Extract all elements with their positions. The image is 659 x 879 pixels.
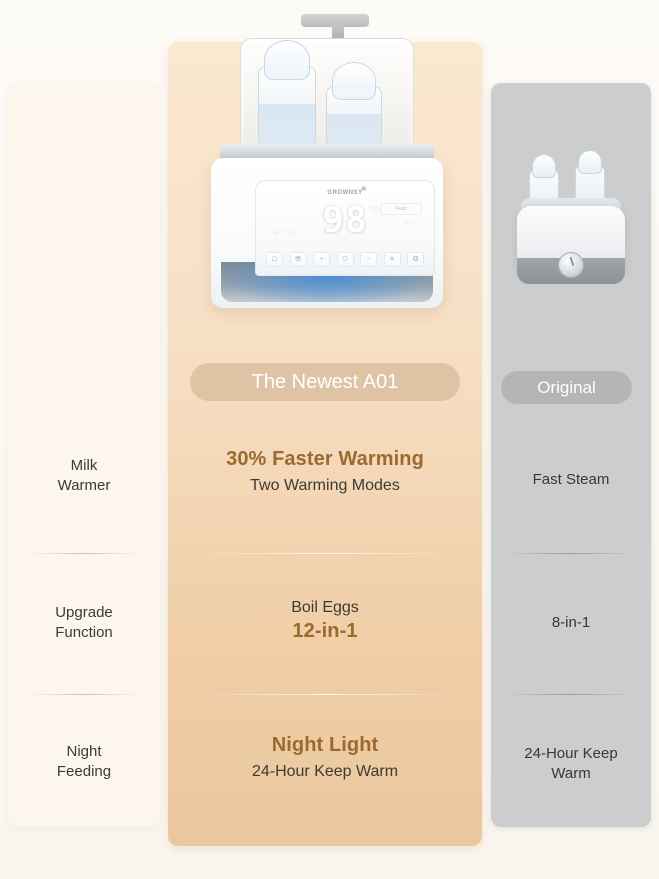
original-value-row-1: Fast Steam (491, 470, 651, 490)
new-value-row-1: 30% Faster Warming Two Warming Modes (168, 446, 482, 497)
badge-new-product: The Newest A01 (190, 363, 460, 401)
night-light-button[interactable]: ☀ (384, 252, 401, 267)
divider-center-1 (190, 553, 462, 554)
original-value-row-2: 8-in-1 (491, 613, 651, 633)
badge-original-product: Original (501, 371, 632, 404)
sterilize-button[interactable]: ❂ (407, 252, 424, 267)
original-nipple-right-icon (578, 150, 602, 174)
divider-left-2 (28, 694, 140, 695)
feature-label-row-1-line-2: Warmer (8, 476, 160, 496)
original-nipple-left-icon (532, 154, 556, 178)
divider-left-1 (28, 553, 140, 554)
warmer-body: GROWNSY ❋ 98 °C °F °C Fast min ☖ ⛃ + ⏻ −… (211, 158, 443, 308)
control-panel: GROWNSY ❋ 98 °C °F °C Fast min ☖ ⛃ + ⏻ −… (255, 180, 435, 276)
temperature-unit: °C (369, 205, 378, 214)
feature-label-row-2-line-1: Upgrade (8, 603, 160, 623)
brand-logo: GROWNSY (256, 190, 434, 196)
feature-label-row-1: Milk Warmer (8, 456, 160, 496)
new-value-row-3: Night Light 24-Hour Keep Warm (168, 732, 482, 783)
product-image-original (505, 158, 637, 298)
feature-column-panel (8, 83, 160, 827)
feature-label-row-3-line-2: Feeding (8, 762, 160, 782)
lid-handle-stem-icon (332, 25, 344, 39)
new-value-row-3-sub: 24-Hour Keep Warm (168, 761, 482, 782)
bottle-liquid-left-icon (259, 104, 315, 148)
original-value-row-3-line-2: Warm (491, 764, 651, 784)
feature-label-row-2-line-2: Function (8, 623, 160, 643)
feature-label-row-2: Upgrade Function (8, 603, 160, 643)
power-button[interactable]: ⏻ (337, 252, 354, 267)
divider-right-2 (506, 694, 636, 695)
bottle-nipple-right-icon (332, 62, 376, 100)
plus-button[interactable]: + (313, 252, 330, 267)
feature-label-row-3: Night Feeding (8, 742, 160, 782)
new-value-row-1-main: 30% Faster Warming (168, 446, 482, 472)
touch-button-row: ☖ ⛃ + ⏻ − ☀ ❂ (266, 252, 424, 267)
bottle-liquid-right-icon (327, 114, 381, 148)
new-value-row-2-sub: Boil Eggs (168, 597, 482, 618)
feature-label-row-3-line-1: Night (8, 742, 160, 762)
divider-center-2 (190, 694, 462, 695)
minus-button[interactable]: − (360, 252, 377, 267)
original-value-row-3: 24-Hour Keep Warm (491, 744, 651, 784)
bottle-warm-button[interactable]: ☖ (266, 252, 283, 267)
food-heat-button[interactable]: ⛃ (290, 252, 307, 267)
new-value-row-3-main: Night Light (168, 732, 482, 758)
new-value-row-1-sub: Two Warming Modes (168, 475, 482, 496)
bottle-nipple-left-icon (264, 40, 310, 80)
original-dial-knob[interactable] (558, 252, 584, 278)
feature-label-row-1-line-1: Milk (8, 456, 160, 476)
fast-mode-sublabel: min (405, 221, 416, 227)
original-value-row-3-line-1: 24-Hour Keep (491, 744, 651, 764)
infographic-canvas: GROWNSY ❋ 98 °C °F °C Fast min ☖ ⛃ + ⏻ −… (0, 0, 659, 879)
divider-right-1 (506, 553, 636, 554)
unit-marks-label: °F °C (271, 231, 295, 237)
new-value-row-2: Boil Eggs 12-in-1 (168, 597, 482, 645)
sparkle-icon: ❋ (361, 185, 367, 193)
new-value-row-2-main: 12-in-1 (168, 618, 482, 644)
fast-mode-chip: Fast (380, 203, 422, 215)
product-image-new-a01: GROWNSY ❋ 98 °C °F °C Fast min ☖ ⛃ + ⏻ −… (186, 8, 466, 318)
